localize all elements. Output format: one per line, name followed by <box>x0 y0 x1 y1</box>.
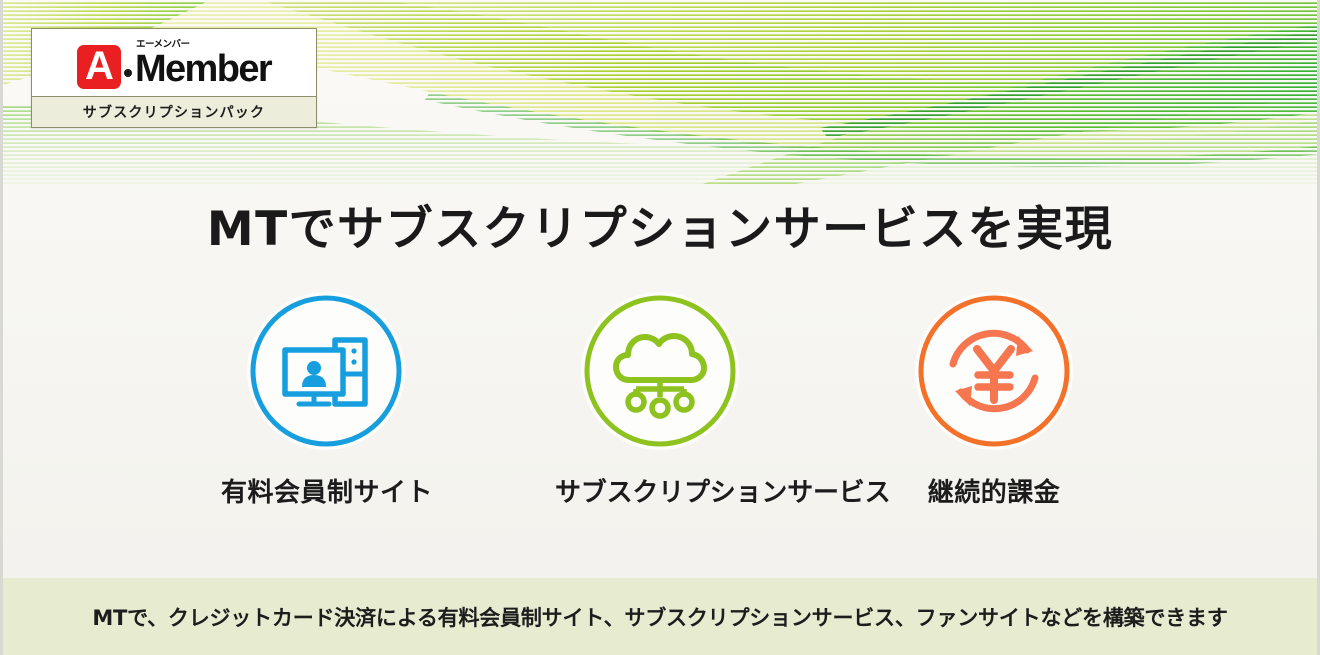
feature-item: 継続的課金 <box>889 292 1099 509</box>
footer-description-strip: MTで、クレジットカード決済による有料会員制サイト、サブスクリプションサービス、… <box>3 578 1317 655</box>
a-member-logo-card: A エーメンバー Member サブスクリプションパック <box>31 28 317 128</box>
logo-initial-a: A <box>77 45 121 89</box>
logo-wordmark-area: A エーメンバー Member <box>32 29 316 97</box>
feature-row: 有料会員制サイト サブスクリ <box>3 292 1317 509</box>
feature-label: 継続的課金 <box>889 472 1099 509</box>
subscription-pack-banner: A エーメンバー Member サブスクリプションパック MTでサブスクリプショ… <box>0 0 1320 655</box>
recurring-payment-circle <box>915 292 1073 450</box>
page-title: MTでサブスクリプションサービスを実現 <box>3 190 1317 259</box>
member-site-circle <box>247 292 405 450</box>
feature-item: 有料会員制サイト <box>221 292 431 509</box>
logo-separator-dot <box>124 69 132 77</box>
footer-description-text: MTで、クレジットカード決済による有料会員制サイト、サブスクリプションサービス、… <box>92 602 1227 632</box>
cloud-network-circle <box>581 292 739 450</box>
recurring-yen-payment-icon <box>915 292 1073 450</box>
member-site-monitor-icon <box>247 292 405 450</box>
logo-ruby-text: エーメンバー <box>136 36 190 50</box>
feature-label: サブスクリプションサービス <box>555 472 765 509</box>
cloud-network-icon <box>581 292 739 450</box>
feature-label: 有料会員制サイト <box>221 472 431 509</box>
logo-badge-label: サブスクリプションパック <box>32 97 316 127</box>
feature-item: サブスクリプションサービス <box>555 292 765 509</box>
logo-wordmark-text: Member <box>135 49 271 89</box>
